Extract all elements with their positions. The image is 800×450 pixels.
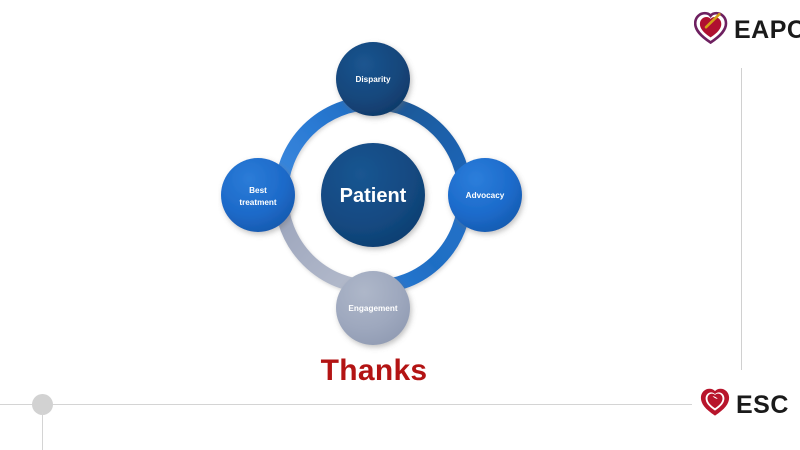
diagram-node-engagement: Engagement xyxy=(336,271,410,345)
diagram-node-best-treatment-label-line2: treatment xyxy=(239,198,277,207)
footer-dot-stem-line xyxy=(42,412,43,450)
esc-logo: ESC xyxy=(700,388,789,422)
diagram-node-advocacy-label: Advocacy xyxy=(466,191,505,200)
eapci-heart-arrow-icon xyxy=(694,11,728,49)
esc-heart-icon xyxy=(700,388,730,422)
diagram-node-disparity-label: Disparity xyxy=(355,75,390,84)
esc-wordmark: ESC xyxy=(736,393,789,418)
diagram-node-patient: Patient xyxy=(321,143,425,247)
slide-canvas: EAPCI ESC xyxy=(0,0,800,450)
footer-divider-line xyxy=(0,404,692,405)
diagram-node-best-treatment-label-line1: Best xyxy=(249,186,267,195)
diagram-node-engagement-label: Engagement xyxy=(348,304,397,313)
patient-cycle-diagram: Patient Disparity Advocacy Engagement Be… xyxy=(218,28,528,362)
diagram-node-patient-label: Patient xyxy=(340,185,407,207)
closing-thanks-text: Thanks xyxy=(0,354,748,388)
right-vertical-divider xyxy=(741,68,742,370)
diagram-node-disparity: Disparity xyxy=(336,42,410,116)
eapci-wordmark: EAPCI xyxy=(734,18,800,43)
diagram-node-advocacy: Advocacy xyxy=(448,158,522,232)
diagram-node-best-treatment: Best treatment xyxy=(221,158,295,232)
eapci-logo: EAPCI xyxy=(694,11,800,49)
